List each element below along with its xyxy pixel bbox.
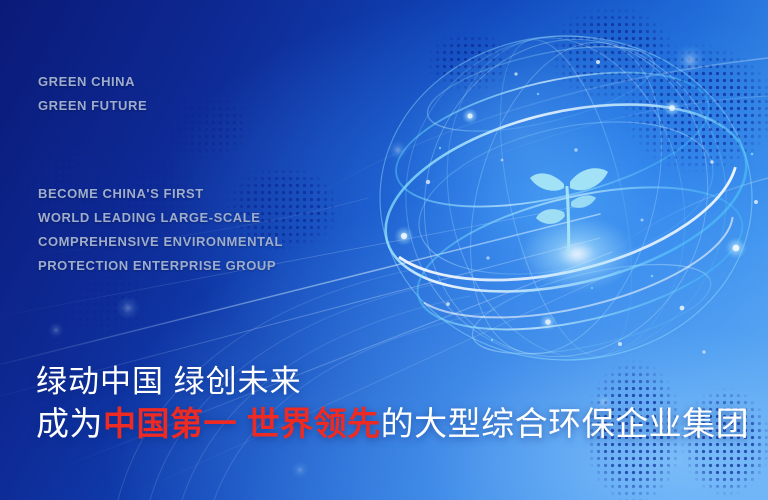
headline-cn-line1: 绿动中国 绿创未来: [36, 362, 749, 402]
headline-cn-suffix: 的大型综合环保企业集团: [381, 405, 750, 442]
sprout-icon: [520, 158, 616, 268]
mission-line: BECOME CHINA'S FIRST: [38, 182, 283, 206]
headline-cn-line2: 成为中国第一 世界领先的大型综合环保企业集团: [36, 402, 749, 446]
tagline-en-primary: GREEN CHINA GREEN FUTURE: [38, 70, 147, 118]
tagline-en-line: GREEN FUTURE: [38, 94, 147, 118]
tagline-en-line: GREEN CHINA: [38, 70, 147, 94]
headline-cn-highlight: 中国第一 世界领先: [103, 405, 381, 442]
headline-cn-prefix: 成为: [36, 405, 103, 442]
headline-cn: 绿动中国 绿创未来 成为中国第一 世界领先的大型综合环保企业集团: [36, 362, 749, 446]
mission-statement-en: BECOME CHINA'S FIRST WORLD LEADING LARGE…: [38, 182, 283, 278]
hero-banner: GREEN CHINA GREEN FUTURE BECOME CHINA'S …: [0, 0, 768, 500]
mission-line: WORLD LEADING LARGE-SCALE: [38, 206, 283, 230]
mission-line: COMPREHENSIVE ENVIRONMENTAL: [38, 230, 283, 254]
mission-line: PROTECTION ENTERPRISE GROUP: [38, 254, 283, 278]
